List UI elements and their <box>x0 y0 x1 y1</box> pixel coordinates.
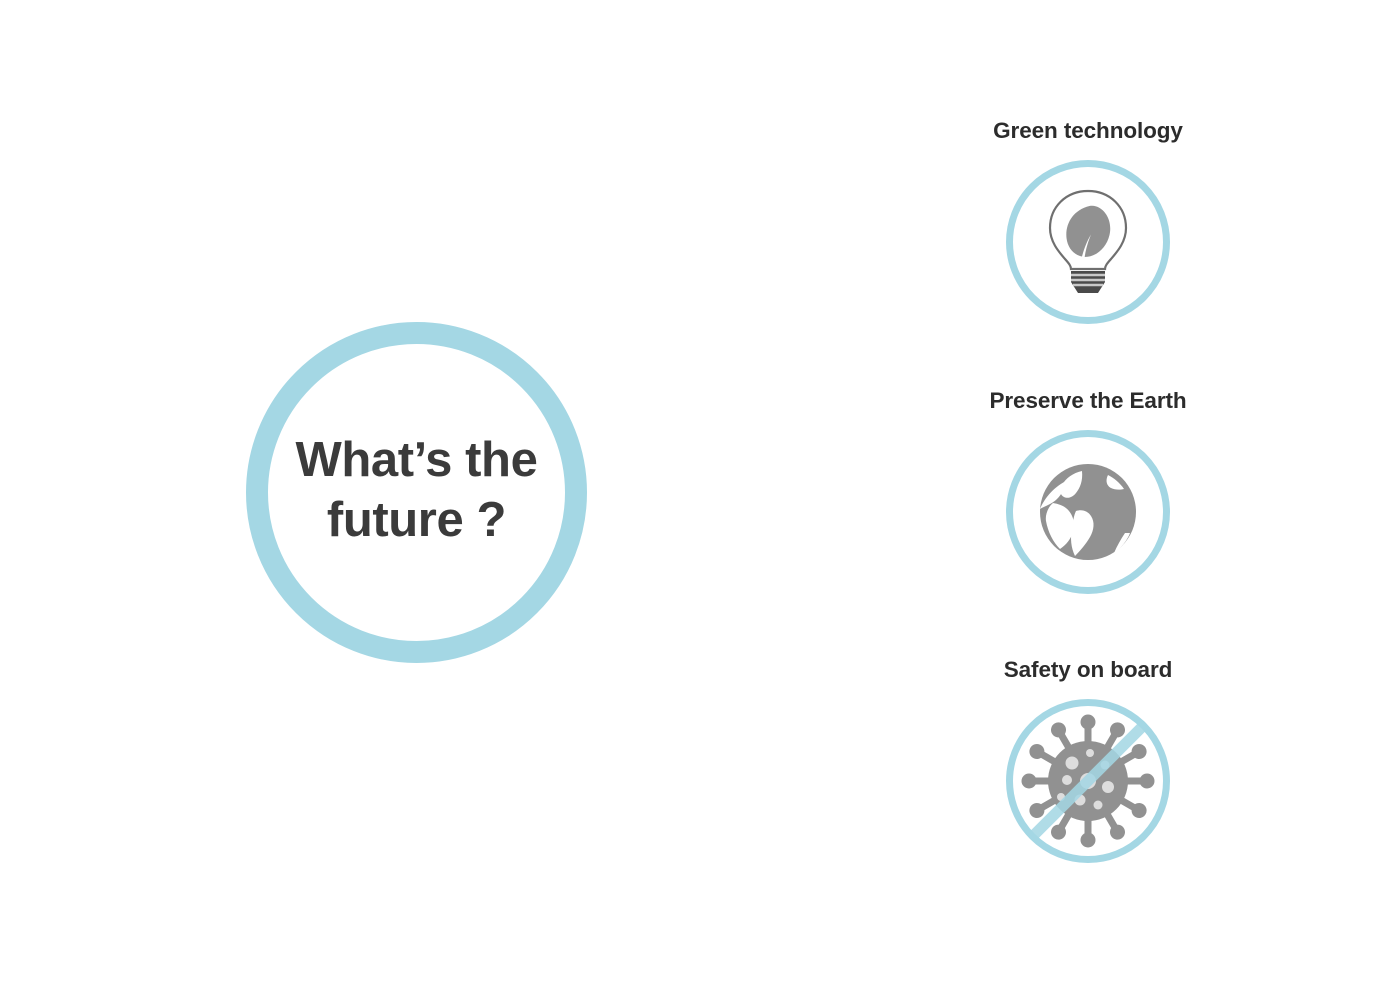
feature-safety-on-board[interactable]: Safety on board <box>940 657 1236 863</box>
feature-icon-circle-preserve-the-earth <box>1006 430 1170 594</box>
globe-earth-icon <box>1035 459 1141 565</box>
feature-icon-circle-green-technology <box>1006 160 1170 324</box>
feature-icon-circle-safety-on-board <box>1006 699 1170 863</box>
question-circle: What’s the future ? <box>246 322 587 663</box>
lightbulb-leaf-icon <box>1040 186 1136 298</box>
feature-label-green-technology: Green technology <box>993 118 1183 144</box>
feature-label-safety-on-board: Safety on board <box>1004 657 1173 683</box>
feature-green-technology[interactable]: Green technology <box>940 118 1236 324</box>
virus-prohibited-icon <box>1012 705 1164 857</box>
feature-label-preserve-the-earth: Preserve the Earth <box>989 388 1186 414</box>
feature-preserve-the-earth[interactable]: Preserve the Earth <box>940 388 1236 594</box>
page-title: What’s the future ? <box>296 431 538 555</box>
